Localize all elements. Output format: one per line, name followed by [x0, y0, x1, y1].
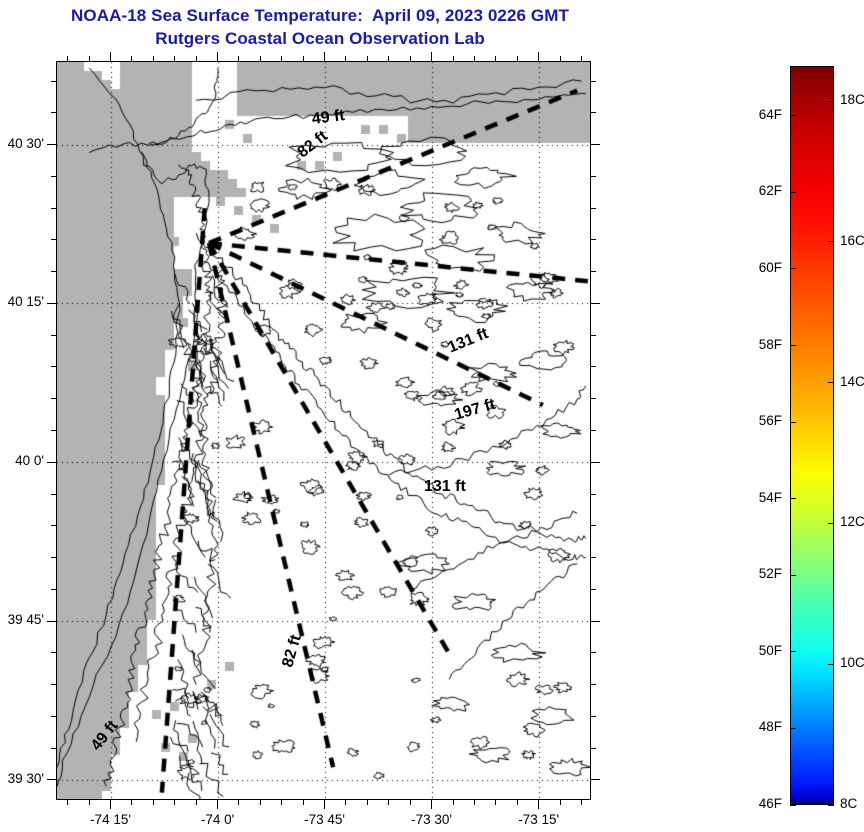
colorbar-label-c-5: 8C	[840, 796, 864, 811]
x-tick	[174, 56, 175, 61]
x-tick	[388, 800, 389, 805]
colorbar-label-f-8: 48F	[736, 719, 782, 734]
y-tick	[591, 494, 596, 495]
y-axis-label-0: 40 30'	[0, 136, 44, 151]
depth-131-lower: 131 ft	[424, 478, 466, 496]
y-axis-label-2: 40 0'	[0, 453, 44, 468]
colorbar-label-f-2: 60F	[736, 260, 782, 275]
y-tick	[591, 176, 596, 177]
colorbar-tick-f-8	[790, 728, 796, 729]
y-tick	[47, 779, 56, 780]
x-axis-label-0: -74 15'	[69, 812, 153, 827]
y-tick	[591, 462, 600, 463]
temperature-colorbar[interactable]	[790, 66, 834, 805]
y-tick	[591, 366, 596, 367]
colorbar-tick-c-4	[828, 664, 834, 665]
title-block: NOAA-18 Sea Surface Temperature: April 0…	[0, 4, 640, 50]
y-tick	[47, 462, 56, 463]
x-tick	[238, 56, 239, 61]
x-tick	[196, 800, 197, 805]
y-tick	[51, 557, 56, 558]
y-tick	[591, 652, 596, 653]
x-tick	[153, 56, 154, 61]
colorbar-tick-c-0	[828, 101, 834, 102]
x-tick	[345, 800, 346, 805]
colorbar-label-f-0: 64F	[736, 107, 782, 122]
x-tick	[131, 56, 132, 61]
colorbar-label-c-3: 12C	[840, 514, 864, 529]
y-tick	[591, 557, 596, 558]
x-tick	[89, 56, 90, 61]
colorbar-label-f-7: 50F	[736, 643, 782, 658]
y-tick	[51, 430, 56, 431]
colorbar-label-f-6: 52F	[736, 566, 782, 581]
y-tick	[591, 112, 596, 113]
y-tick	[51, 525, 56, 526]
x-tick	[560, 56, 561, 61]
x-tick	[281, 56, 282, 61]
x-tick	[410, 56, 411, 61]
page-subtitle: Rutgers Coastal Ocean Observation Lab	[0, 27, 640, 50]
x-tick	[174, 800, 175, 805]
x-tick	[303, 800, 304, 805]
y-tick	[591, 589, 596, 590]
x-tick	[303, 56, 304, 61]
y-tick	[47, 303, 56, 304]
y-tick	[591, 144, 600, 145]
colorbar-tick-f-2	[790, 268, 796, 269]
colorbar-label-f-3: 58F	[736, 337, 782, 352]
colorbar-tick-f-7	[790, 651, 796, 652]
x-tick	[431, 800, 432, 809]
x-tick	[367, 56, 368, 61]
y-tick	[47, 621, 56, 622]
y-tick	[591, 525, 596, 526]
x-tick	[410, 800, 411, 805]
colorbar-tick-c-2	[828, 382, 834, 383]
colorbar-tick-f-0	[790, 115, 796, 116]
x-tick	[110, 52, 111, 61]
y-tick	[591, 398, 596, 399]
x-tick	[67, 56, 68, 61]
x-tick	[453, 56, 454, 61]
y-tick	[591, 779, 600, 780]
y-tick	[51, 652, 56, 653]
x-tick	[431, 52, 432, 61]
y-tick	[47, 144, 56, 145]
x-tick	[367, 800, 368, 805]
colorbar-tick-f-4	[790, 422, 796, 423]
y-tick	[591, 335, 596, 336]
x-axis-label-2: -73 45'	[283, 812, 367, 827]
colorbar-label-f-1: 62F	[736, 183, 782, 198]
y-axis-label-1: 40 15'	[0, 294, 44, 309]
x-tick	[89, 800, 90, 805]
x-axis-label-1: -74 0'	[176, 812, 260, 827]
colorbar-label-c-4: 10C	[840, 655, 864, 670]
x-tick	[474, 800, 475, 805]
y-tick	[51, 335, 56, 336]
y-tick	[591, 271, 596, 272]
colorbar-tick-c-5	[828, 805, 834, 806]
y-tick	[51, 112, 56, 113]
x-tick	[260, 56, 261, 61]
y-tick	[51, 176, 56, 177]
x-tick	[217, 52, 218, 61]
x-tick	[581, 56, 582, 61]
colorbar-tick-f-5	[790, 498, 796, 499]
y-axis-label-4: 39 30'	[0, 771, 44, 786]
x-tick	[110, 800, 111, 809]
x-tick	[153, 800, 154, 805]
y-tick	[51, 208, 56, 209]
y-tick	[51, 271, 56, 272]
x-tick	[474, 56, 475, 61]
colorbar-label-f-4: 56F	[736, 413, 782, 428]
page-title: NOAA-18 Sea Surface Temperature: April 0…	[0, 4, 640, 27]
x-tick	[581, 800, 582, 805]
colorbar-tick-c-3	[828, 523, 834, 524]
colorbar-label-f-9: 46F	[736, 796, 782, 811]
y-tick	[591, 716, 596, 717]
y-tick	[51, 239, 56, 240]
colorbar-tick-f-9	[790, 805, 796, 806]
y-tick	[591, 208, 596, 209]
y-tick	[591, 684, 596, 685]
colorbar-tick-f-3	[790, 345, 796, 346]
y-tick	[51, 748, 56, 749]
x-tick	[281, 800, 282, 805]
x-tick	[388, 56, 389, 61]
y-tick	[51, 398, 56, 399]
y-tick	[591, 239, 596, 240]
colorbar-label-c-0: 18C	[840, 92, 864, 107]
y-tick	[51, 366, 56, 367]
y-tick	[51, 81, 56, 82]
x-tick	[238, 800, 239, 805]
y-tick	[591, 81, 596, 82]
colorbar-label-f-5: 54F	[736, 490, 782, 505]
x-tick	[517, 800, 518, 805]
x-tick	[345, 56, 346, 61]
y-tick	[51, 684, 56, 685]
y-tick	[591, 621, 600, 622]
colorbar-tick-f-6	[790, 575, 796, 576]
x-tick	[217, 800, 218, 809]
x-tick	[131, 800, 132, 805]
x-tick	[560, 800, 561, 805]
colorbar-label-c-2: 14C	[840, 374, 864, 389]
sst-map-canvas	[57, 62, 590, 799]
y-tick	[591, 303, 600, 304]
colorbar-tick-c-1	[828, 241, 834, 242]
x-axis-label-4: -73 15'	[497, 812, 581, 827]
x-tick	[495, 56, 496, 61]
x-tick	[196, 56, 197, 61]
x-tick	[517, 56, 518, 61]
colorbar-label-c-1: 16C	[840, 233, 864, 248]
x-tick	[538, 52, 539, 61]
x-tick	[538, 800, 539, 809]
y-tick	[591, 748, 596, 749]
x-tick	[495, 800, 496, 805]
x-tick	[453, 800, 454, 805]
y-tick	[51, 589, 56, 590]
sst-map-plot[interactable]	[56, 61, 591, 800]
y-tick	[591, 430, 596, 431]
x-tick	[260, 800, 261, 805]
colorbar-tick-f-1	[790, 192, 796, 193]
x-tick	[324, 52, 325, 61]
y-tick	[51, 716, 56, 717]
x-tick	[324, 800, 325, 809]
x-tick	[67, 800, 68, 805]
y-axis-label-3: 39 45'	[0, 612, 44, 627]
x-axis-label-3: -73 30'	[390, 812, 474, 827]
y-tick	[51, 494, 56, 495]
